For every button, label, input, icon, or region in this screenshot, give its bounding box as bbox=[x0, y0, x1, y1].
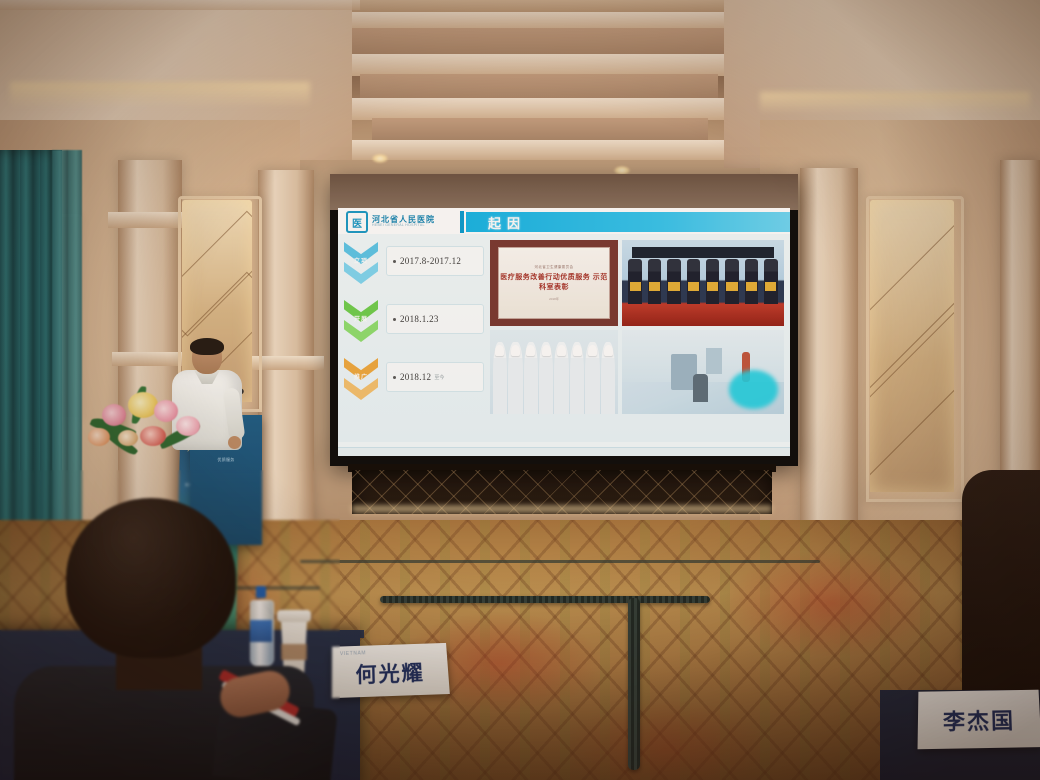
floor-cable bbox=[628, 598, 640, 770]
wall-pillar bbox=[1000, 160, 1040, 490]
wall-pillar bbox=[258, 170, 314, 530]
timeline-stage-label: 开展 bbox=[344, 314, 378, 323]
timeline-box: 2017.8-2017.12 bbox=[386, 246, 484, 276]
bullet-dot-icon bbox=[393, 260, 396, 263]
slide-title: 起因 bbox=[488, 213, 526, 232]
floor-cable bbox=[380, 596, 710, 603]
timeline-date: 2018.12 bbox=[400, 372, 431, 382]
timeline-stage-label: 推广 bbox=[344, 372, 378, 381]
presentation-slide: 医 河北省人民医院 HEBEI GENERAL HOSPITAL www.lzr… bbox=[338, 208, 790, 456]
timeline-stage-label: 立项 bbox=[344, 256, 378, 265]
hospital-ward-photo bbox=[622, 330, 784, 414]
screen-top-band bbox=[330, 174, 798, 210]
medical-staff-photo bbox=[490, 330, 618, 414]
bullet-dot-icon bbox=[393, 376, 396, 379]
logo-name-en: HEBEI GENERAL HOSPITAL bbox=[372, 224, 435, 228]
slide-body: 立项 2017.8-2017.12 开展 bbox=[338, 234, 790, 442]
decorative-wall-panel bbox=[870, 200, 954, 492]
certificate-footer: 2018年 bbox=[549, 297, 559, 301]
slide-photo-grid: 河北省卫生健康委员会 医疗服务改善行动优质服务 示范科室表彰 2018年 bbox=[490, 234, 790, 442]
podium-label: 优质服务 bbox=[194, 457, 258, 463]
seated-attendee-right bbox=[962, 470, 1040, 710]
logo-mark-icon: 医 bbox=[346, 211, 368, 233]
ceiling-downlight bbox=[372, 154, 388, 163]
timeline-date: 2018.1.23 bbox=[400, 314, 439, 324]
chevron-arrow-icon: 推广 bbox=[344, 358, 378, 408]
niche-light-glow bbox=[352, 506, 772, 516]
placard-name: 李杰国 bbox=[918, 703, 1040, 737]
award-certificate-photo: 河北省卫生健康委员会 医疗服务改善行动优质服务 示范科室表彰 2018年 bbox=[490, 240, 618, 326]
certificate-title: 医疗服务改善行动优质服务 示范科室表彰 bbox=[499, 273, 609, 294]
name-placard: VIETNAM 何光耀 bbox=[332, 643, 450, 698]
slide-footer bbox=[338, 447, 790, 456]
flower-arrangement bbox=[88, 378, 216, 456]
conference-room-photo: 医 河北省人民医院 HEBEI GENERAL HOSPITAL www.lzr… bbox=[0, 0, 1040, 780]
certificate-subtitle: 河北省卫生健康委员会 bbox=[534, 265, 573, 270]
timeline-box: 2018.1.23 bbox=[386, 304, 484, 334]
timeline-note: 至今 bbox=[434, 374, 444, 381]
wall-pillar bbox=[800, 168, 858, 538]
title-tick bbox=[460, 211, 464, 233]
timeline-list: 立项 2017.8-2017.12 开展 bbox=[338, 234, 490, 442]
slide-header: 医 河北省人民医院 HEBEI GENERAL HOSPITAL www.lzr… bbox=[338, 208, 790, 234]
chevron-arrow-icon: 开展 bbox=[344, 300, 378, 350]
name-placard: 李杰国 bbox=[918, 690, 1040, 750]
seated-attendee-foreground bbox=[20, 498, 310, 780]
floor-cable bbox=[300, 560, 820, 563]
timeline-date: 2017.8-2017.12 bbox=[400, 256, 461, 266]
timeline-box: 2018.12 至今 bbox=[386, 362, 484, 392]
placard-subtitle: VIETNAM bbox=[340, 650, 366, 657]
bullet-dot-icon bbox=[393, 318, 396, 321]
projection-screen: 医 河北省人民医院 HEBEI GENERAL HOSPITAL www.lzr… bbox=[330, 174, 798, 466]
timeline-row: 开展 2018.1.23 bbox=[344, 300, 490, 358]
timeline-row: 推广 2018.12 至今 bbox=[344, 358, 490, 416]
chevron-arrow-icon: 立项 bbox=[344, 242, 378, 292]
timeline-row: 立项 2017.8-2017.12 bbox=[344, 242, 490, 300]
hospital-logo: 医 河北省人民医院 HEBEI GENERAL HOSPITAL bbox=[346, 211, 435, 233]
placard-name: 何光耀 bbox=[332, 656, 449, 690]
award-ceremony-photo bbox=[622, 240, 784, 326]
